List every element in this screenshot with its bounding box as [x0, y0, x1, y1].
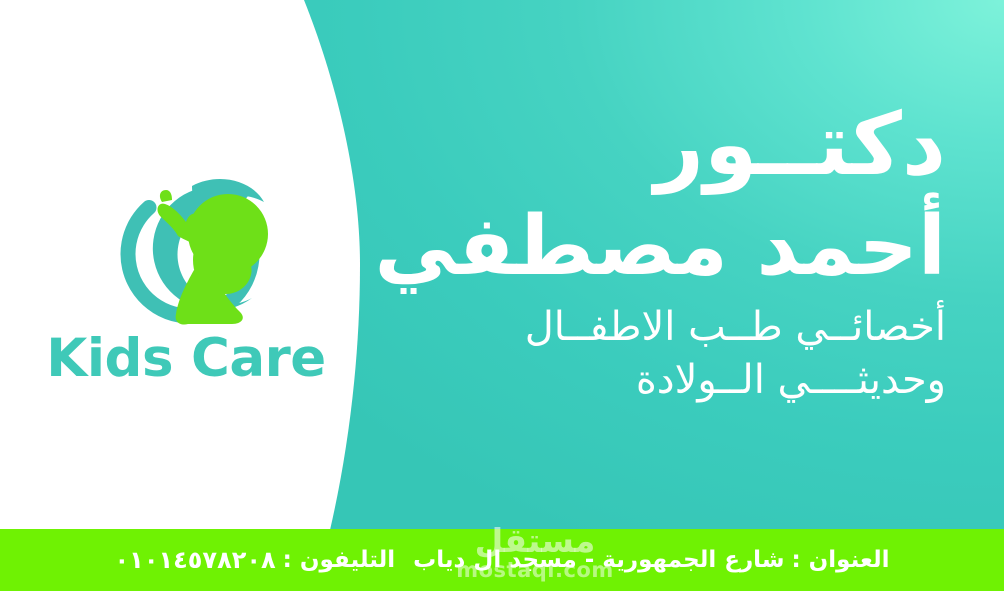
address-label: العنوان :	[791, 547, 889, 573]
phone-label: التليفون :	[283, 547, 396, 573]
doctor-title: دكتــور	[346, 96, 946, 196]
phone-value: ٠١٠١٤٥٧٨٢٠٨	[115, 546, 276, 574]
specialty-line-1: أخصائــي طــب الاطفــال	[346, 302, 946, 353]
contact-bar: العنوان : شارع الجمهورية - مسجد ال دياب …	[0, 529, 1004, 591]
brand-name: Kids Care	[0, 332, 372, 385]
contact-bar-content: العنوان : شارع الجمهورية - مسجد ال دياب …	[0, 529, 1004, 591]
business-card: Kids Care دكتــور أحمد مصطفي أخصائــي طـ…	[0, 0, 1004, 591]
logo-mark	[100, 158, 300, 338]
address-group: العنوان : شارع الجمهورية - مسجد ال دياب	[413, 547, 889, 573]
specialty-line-2: وحديثــــي الــولادة	[346, 355, 946, 406]
address-value: شارع الجمهورية - مسجد ال دياب	[413, 547, 784, 573]
headline-block: دكتــور أحمد مصطفي أخصائــي طــب الاطفــ…	[346, 96, 946, 407]
doctor-name: أحمد مصطفي	[346, 198, 946, 296]
phone-group: التليفون : ٠١٠١٤٥٧٨٢٠٨	[115, 546, 396, 574]
